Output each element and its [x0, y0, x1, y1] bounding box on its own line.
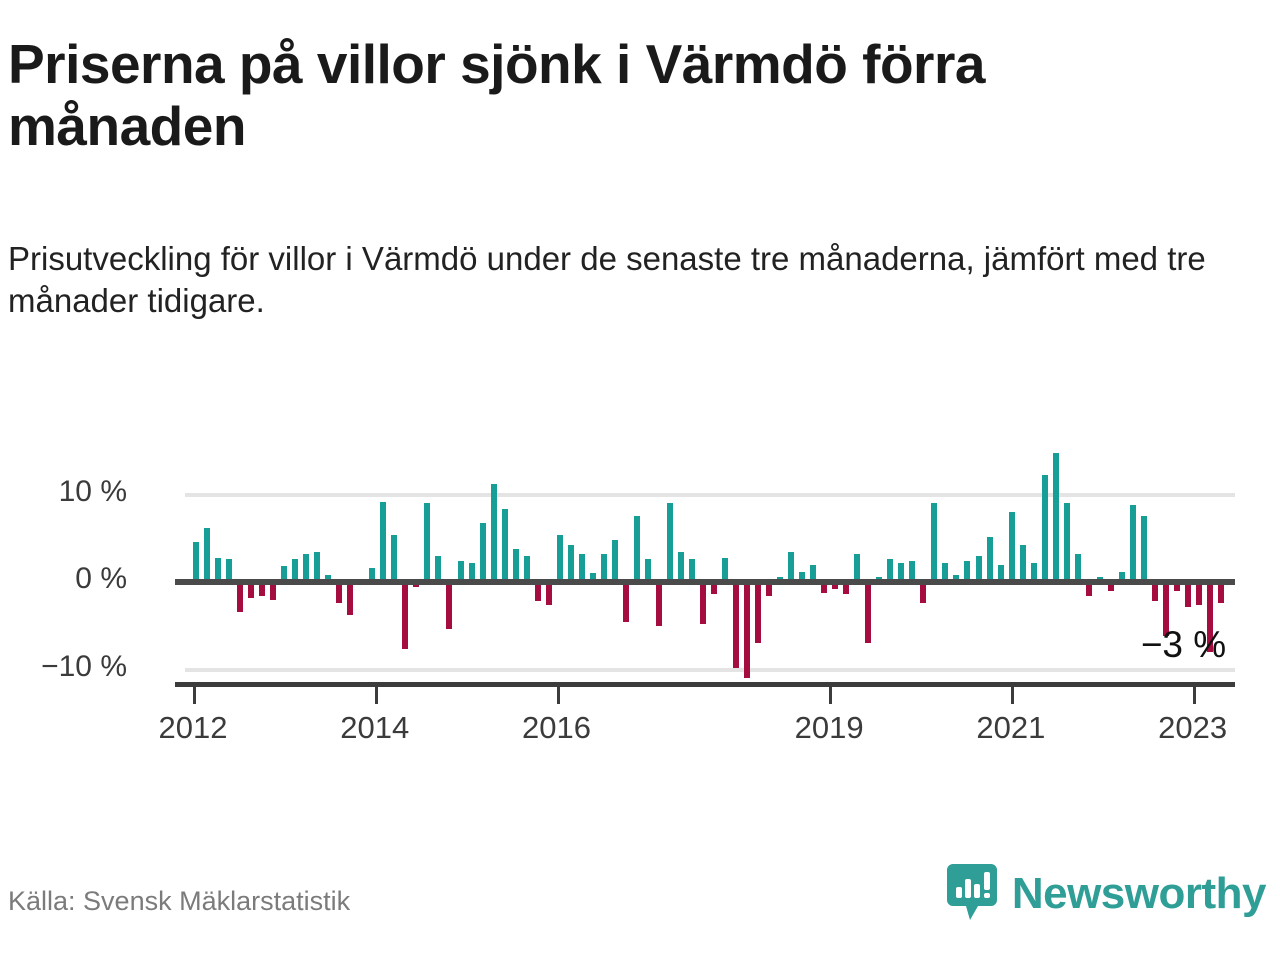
- bar: [1141, 516, 1147, 583]
- bar: [546, 582, 552, 605]
- bar: [303, 554, 309, 582]
- newsworthy-logo: Newsworthy: [946, 862, 1266, 926]
- y-tick-label: 0 %: [0, 562, 127, 596]
- zero-axis-line: [175, 579, 1235, 585]
- bar: [568, 545, 574, 582]
- bar: [744, 582, 750, 678]
- x-tick-label: 2021: [931, 710, 1091, 746]
- x-tick-label: 2019: [749, 710, 909, 746]
- page-subtitle: Prisutveckling för villor i Värmdö under…: [8, 238, 1208, 322]
- bar: [987, 537, 993, 583]
- last-value-annotation: −3 %: [1141, 624, 1226, 666]
- bar: [1130, 505, 1136, 582]
- bar: [656, 582, 662, 626]
- x-tick-mark: [193, 687, 196, 704]
- bar: [1075, 554, 1081, 582]
- plot-area: 10 %0 %−10 %: [185, 442, 1235, 687]
- bar: [601, 554, 607, 582]
- bar: [700, 582, 706, 624]
- x-tick-mark: [1011, 687, 1014, 704]
- bar: [402, 582, 408, 649]
- x-tick-mark: [375, 687, 378, 704]
- bar: [391, 535, 397, 582]
- source-caption: Källa: Svensk Mäklarstatistik: [8, 886, 350, 917]
- bar: [380, 502, 386, 583]
- bar: [733, 582, 739, 668]
- bar: [193, 542, 199, 582]
- chart-page: Priserna på villor sjönk i Värmdö förra …: [0, 0, 1280, 960]
- bar: [204, 528, 210, 582]
- y-tick-label: −10 %: [0, 650, 127, 684]
- bar: [854, 554, 860, 582]
- brand-name: Newsworthy: [1012, 872, 1266, 916]
- y-tick-label: 10 %: [0, 475, 127, 509]
- bar-chart: 10 %0 %−10 % 201220142016201920212023 −3…: [0, 420, 1280, 760]
- x-tick-mark: [1193, 687, 1196, 704]
- bar: [513, 549, 519, 582]
- bar: [1064, 503, 1070, 582]
- bar: [336, 582, 342, 603]
- bar-series: [185, 442, 1235, 687]
- bar: [1196, 582, 1202, 605]
- bar: [667, 503, 673, 582]
- bar: [634, 516, 640, 583]
- x-tick-label: 2023: [1113, 710, 1273, 746]
- bar: [678, 552, 684, 582]
- x-tick-mark: [829, 687, 832, 704]
- bar: [480, 523, 486, 583]
- bar: [755, 582, 761, 643]
- bar: [920, 582, 926, 603]
- bar: [347, 582, 353, 615]
- bar: [314, 552, 320, 582]
- bar: [931, 503, 937, 582]
- x-axis-line: [175, 682, 1235, 687]
- newsworthy-speech-bubble-bar-chart-icon: [946, 862, 998, 926]
- x-tick-mark: [557, 687, 560, 704]
- bar: [237, 582, 243, 612]
- bar: [424, 503, 430, 582]
- bar: [612, 540, 618, 582]
- bar: [623, 582, 629, 622]
- bar: [1218, 582, 1224, 603]
- bar: [491, 484, 497, 582]
- bar: [1009, 512, 1015, 582]
- bar: [446, 582, 452, 629]
- bar: [1185, 582, 1191, 607]
- bar: [788, 552, 794, 582]
- bar: [579, 554, 585, 582]
- bar: [1042, 475, 1048, 582]
- x-tick-label: 2012: [113, 710, 273, 746]
- bar: [1053, 453, 1059, 583]
- bar: [1020, 545, 1026, 582]
- x-tick-label: 2016: [477, 710, 637, 746]
- bar: [502, 509, 508, 583]
- bar: [865, 582, 871, 643]
- page-title: Priserna på villor sjönk i Värmdö förra …: [8, 34, 1158, 157]
- bar: [557, 535, 563, 582]
- x-tick-label: 2014: [295, 710, 455, 746]
